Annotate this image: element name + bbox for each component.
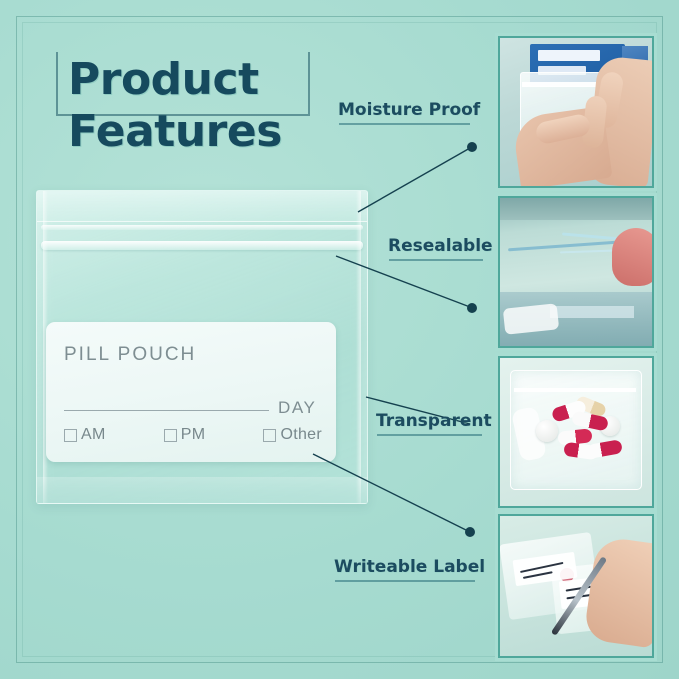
title-line-2: Features (68, 110, 282, 154)
product-features-infographic: Product Features PILL POUCH DAY AM PM Ot… (0, 0, 679, 679)
checkbox-label: Other (280, 426, 322, 444)
checkbox-label: AM (81, 426, 106, 444)
connector-dot-resealable (467, 303, 477, 313)
box-label-strip (538, 50, 600, 61)
label-day-text: DAY (278, 398, 317, 418)
connector-line-moisture-proof (358, 148, 470, 212)
checkbox-other[interactable]: Other (263, 426, 322, 444)
label-checkbox-row: AM PM Other (64, 426, 322, 444)
checkbox-label: PM (181, 426, 206, 444)
feature-photo-resealable (498, 196, 654, 348)
pouch-zipper-upper (41, 225, 363, 230)
feature-photo-moisture-proof (498, 36, 654, 188)
round-tablet-1 (536, 420, 558, 442)
photo-content (500, 516, 652, 656)
fingertip (612, 228, 654, 286)
pouch-zipper (514, 388, 636, 392)
title-line-1: Product (68, 58, 259, 102)
label-heading: PILL POUCH (64, 344, 196, 366)
connector-dot-moisture-proof (467, 142, 477, 152)
label-strip (550, 306, 634, 318)
feature-label-writeable-label: Writeable Label (334, 557, 485, 580)
feature-label-moisture-proof: Moisture Proof (338, 100, 480, 123)
checkbox-box-icon (164, 429, 177, 442)
photo-content (500, 38, 652, 186)
label-write-line (64, 410, 269, 411)
top-shadow-band (500, 198, 652, 220)
feature-photo-writeable-label (498, 514, 654, 658)
checkbox-am[interactable]: AM (64, 426, 106, 444)
connector-dot-writeable-label (465, 527, 475, 537)
pouch-right-seam (356, 191, 361, 503)
feature-photo-transparent (498, 356, 654, 508)
feature-label-resealable: Resealable (388, 236, 493, 259)
pouch-writeable-label: PILL POUCH DAY AM PM Other (46, 322, 336, 462)
checkbox-pm[interactable]: PM (164, 426, 206, 444)
checkbox-box-icon (263, 429, 276, 442)
handwriting-stroke (520, 562, 563, 573)
checkbox-box-icon (64, 429, 77, 442)
photo-content (500, 198, 652, 346)
pouch-zipper-seal (41, 241, 363, 250)
photo-content (500, 358, 652, 506)
pouch-top-band (37, 191, 367, 222)
handwriting-stroke (523, 571, 553, 579)
pouch-bottom-seam (37, 477, 367, 503)
feature-label-transparent: Transparent (376, 411, 492, 434)
